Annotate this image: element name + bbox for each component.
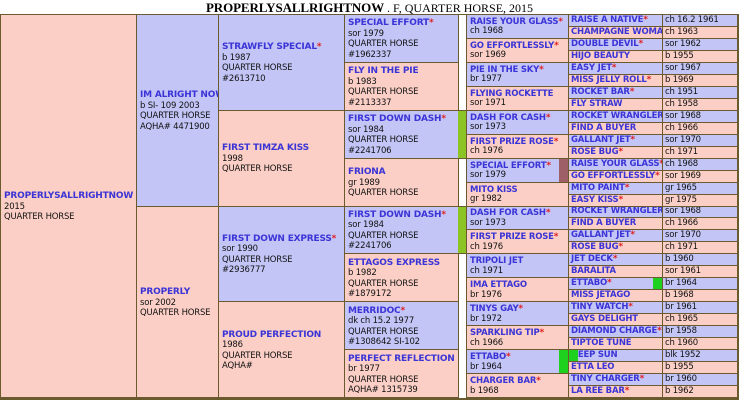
horse-detail-line-1: dk ch 15.2 1977 [348,316,455,327]
horse-name[interactable]: GALLANT JET* [571,136,660,145]
horse-name[interactable]: FLY STRAW [571,100,660,109]
horse-detail-line-1: gr 1982 [470,195,565,205]
cell-gen5-3[interactable]: FLYING ROCKETTEsor 1971 [466,86,569,111]
horse-detail-line-1: sor 1984 [348,220,455,231]
horse-name[interactable]: ROSE BUG* [571,243,660,252]
horse-detail-line-1: ch 1968 [470,27,565,37]
horse-color-year: ch 1971 [665,148,735,157]
horse-detail-line-1: br 1972 [470,315,565,325]
horse-color-year: ch 1960 [665,339,735,348]
generation-2-column: IM ALRIGHT NOWb SI- 109 2003QUARTER HORS… [137,15,219,398]
footer-strip [0,399,739,408]
horse-detail-line-1: gr 1989 [348,178,455,189]
horse-color-year: br 1958 [665,327,735,336]
cell-gen7-31[interactable]: b 1962 [662,385,738,398]
cell-gen1-subject[interactable]: PROPERLYSALLRIGHTNOW2015QUARTER HORSE [0,14,137,398]
horse-detail-line-1: b 1982 [348,268,455,279]
cell-gen5-9[interactable]: FIRST PRIZE ROSE*ch 1976 [466,229,569,254]
stakes-star-icon: * [400,306,405,316]
horse-color-year: ch 1963 [665,28,735,37]
stakes-star-icon: * [536,376,541,386]
cell-gen2-0[interactable]: IM ALRIGHT NOWb SI- 109 2003QUARTER HORS… [136,14,219,207]
horse-color-year: ch 1966 [665,219,735,228]
page-title-rest: . F, QUARTER HORSE, 2015 [384,1,533,15]
cell-gen5-8[interactable]: DASH FOR CASH*sor 1973 [466,206,569,231]
horse-detail-line-3: #2613710 [222,74,341,85]
horse-name[interactable]: JET DECK* [571,255,660,264]
cell-gen4-2[interactable]: FIRST DOWN DASH*sor 1984QUARTER HORSE#22… [344,110,459,159]
cell-gen5-11[interactable]: IMA ETTAGObr 1976 [466,277,569,302]
cell-gen3-1[interactable]: FIRST TIMZA KISS1998QUARTER HORSE [218,110,345,207]
stakes-star-icon: * [618,147,623,157]
horse-detail-line-2: QUARTER HORSE [348,375,455,386]
horse-color-year: b 1962 [665,387,735,396]
cell-gen5-14[interactable]: ETTABO*br 1964 [466,349,569,374]
cell-gen4-6[interactable]: MERRIDOC*dk ch 15.2 1977QUARTER HORSE#13… [344,301,459,350]
horse-name[interactable]: PROUD PERFECTION [222,330,341,341]
cell-gen6-31[interactable]: LA REE BAR* [568,385,663,398]
horse-detail-line-1: sor 1984 [348,125,455,136]
horse-detail-line-1: br 1977 [348,364,455,375]
stakes-star-icon: * [607,278,612,288]
horse-detail-line-1: sor 1971 [470,99,565,109]
horse-name[interactable]: RAISE A NATIVE* [571,16,660,25]
stakes-star-icon: * [317,42,322,52]
horse-name[interactable]: EASY JET* [571,64,660,73]
stakes-star-icon: * [638,39,643,49]
stakes-star-icon: * [618,242,623,252]
stakes-star-icon: * [647,75,652,85]
stakes-star-icon: * [441,114,446,124]
horse-detail-line-1: sor 1969 [470,51,565,61]
horse-detail-line-1: b SI- 109 2003 [140,101,215,112]
horse-detail-line-3: AQHA# [222,361,341,372]
horse-detail-line-3: #2936777 [222,265,341,276]
cell-gen3-0[interactable]: STRAWFLY SPECIAL*b 1987QUARTER HORSE#261… [218,14,345,111]
horse-color-year: ch 16.2 1961 [665,16,735,25]
cell-gen5-7[interactable]: MITO KISSgr 1982 [466,182,569,207]
stakes-star-icon: * [429,18,434,28]
horse-detail-line-2: QUARTER HORSE [140,308,215,319]
horse-detail-line-3: AQHA# 1315739 [348,385,455,396]
horse-color-year: ch 1968 [665,160,735,169]
inbreeding-marker [559,159,568,182]
horse-name[interactable]: ROCKET WRANGLER* [571,207,660,216]
horse-name[interactable]: GALLANT JET* [571,231,660,240]
horse-color-year: sor 1961 [665,267,735,276]
stakes-star-icon: * [643,15,648,25]
horse-detail-line-2: QUARTER HORSE [222,164,341,175]
horse-name[interactable]: CHAMPAGNE WOMAN [571,28,660,37]
cell-gen5-6[interactable]: SPECIAL EFFORT*sor 1979 [466,158,569,183]
horse-detail-line-3: #1879172 [348,289,455,300]
generation-3-column: STRAWFLY SPECIAL*b 1987QUARTER HORSE#261… [219,15,345,398]
horse-color-year: b 1969 [665,76,735,85]
stakes-star-icon: * [546,113,551,123]
stakes-star-icon: * [554,232,559,242]
horse-color-year: br 1960 [665,375,735,384]
horse-name[interactable]: ROCKET WRANGLER* [571,112,660,121]
stakes-star-icon: * [540,328,545,338]
page-title: PROPERLYSALLRIGHTNOW . F, QUARTER HORSE,… [0,0,739,14]
page-title-subject: PROPERLYSALLRIGHTNOW [206,0,384,15]
horse-name[interactable]: FLY IN THE PIE [348,66,455,77]
cell-gen5-0[interactable]: RAISE YOUR GLASS*ch 1968 [466,14,569,39]
horse-color-year: ch 1971 [665,243,735,252]
horse-detail-line-1: 1998 [222,154,341,165]
cell-gen4-5[interactable]: ETTAGOS EXPRESSb 1982QUARTER HORSE#18791… [344,253,459,302]
horse-detail-line-1: sor 1973 [470,219,565,229]
horse-name[interactable]: TINY CHARGER* [571,375,660,384]
inbreeding-marker [653,278,662,289]
stakes-star-icon: * [630,135,635,145]
horse-detail-line-1: sor 1979 [470,171,565,181]
horse-detail-line-2: QUARTER HORSE [348,279,455,290]
horse-name[interactable]: ETTAGOS EXPRESS [348,258,455,269]
stakes-star-icon: * [441,210,446,220]
cell-gen3-2[interactable]: FIRST DOWN EXPRESS*sor 1990QUARTER HORSE… [218,206,345,303]
horse-name[interactable]: SPECIAL EFFORT* [348,18,455,29]
stakes-star-icon: * [640,374,645,384]
horse-detail-line-2: QUARTER HORSE [4,212,133,223]
stakes-star-icon: * [518,304,523,314]
horse-color-year: ch 1951 [665,88,735,97]
horse-name[interactable]: MERRIDOC* [348,306,455,317]
generation-7-column: ch 16.2 1961ch 1963sor 1962b 1955sor 196… [663,15,738,398]
horse-detail-line-1: ch 1976 [470,147,565,157]
horse-name[interactable]: DOUBLE DEVIL* [571,40,660,49]
horse-color-year: sor 1968 [665,112,735,121]
stakes-star-icon: * [554,137,559,147]
horse-detail-line-1: sor 1973 [470,123,565,133]
cell-gen4-7[interactable]: PERFECT REFLECTIONbr 1977QUARTER HORSEAQ… [344,349,459,398]
horse-color-year: blk 1952 [665,351,735,360]
cell-gen4-3[interactable]: FRIONAgr 1989QUARTER HORSE [344,158,459,207]
horse-name[interactable]: HIJO BEAUTY [571,52,660,61]
cell-gen4-0[interactable]: SPECIAL EFFORT*sor 1979QUARTER HORSE#196… [344,14,459,63]
stakes-star-icon: * [558,17,563,27]
horse-color-year: ch 1958 [665,100,735,109]
horse-color-year: b 1960 [665,255,735,264]
horse-detail-line-1: 2015 [4,202,133,213]
horse-name[interactable]: FIRST DOWN DASH* [348,114,455,125]
cell-gen5-13[interactable]: SPARKLING TIP*ch 1966 [466,325,569,350]
horse-detail-line-2: QUARTER HORSE [348,135,455,146]
horse-detail-line-1: br 1976 [470,291,565,301]
stakes-star-icon: * [657,326,662,336]
horse-detail-line-2: QUARTER HORSE [222,63,341,74]
horse-name[interactable]: GAYS DELIGHT [571,315,660,324]
horse-color-year: ch 1965 [665,315,735,324]
horse-detail-line-2: QUARTER HORSE [140,111,215,122]
horse-name[interactable]: FIRST TIMZA KISS [222,143,341,154]
generation-1-column: PROPERLYSALLRIGHTNOW2015QUARTER HORSE [1,15,137,398]
horse-color-year: b 1955 [665,363,735,372]
horse-name[interactable]: BARALITA [571,267,660,276]
horse-name[interactable]: GO EFFORTLESSLY* [571,172,660,181]
horse-detail-line-1: b 1968 [470,387,565,397]
horse-name[interactable]: PERFECT REFLECTION [348,354,455,365]
stakes-star-icon: * [630,87,635,97]
stakes-star-icon: * [539,65,544,75]
horse-detail-line-1: b 1983 [348,77,455,88]
stakes-star-icon: * [630,230,635,240]
horse-color-year: sor 1968 [665,207,735,216]
horse-name[interactable]: FIRST DOWN EXPRESS* [222,234,341,245]
horse-name[interactable]: LA REE BAR* [571,387,660,396]
horse-name[interactable]: FIND A BUYER [571,219,660,228]
cell-gen4-4[interactable]: FIRST DOWN DASH*sor 1984QUARTER HORSE#22… [344,206,459,255]
horse-name[interactable]: MISS JELLY ROLL* [571,76,660,85]
horse-color-year: ch 1966 [665,124,735,133]
cell-gen5-2[interactable]: PIE IN THE SKY*br 1977 [466,62,569,87]
horse-detail-line-2: QUARTER HORSE [348,327,455,338]
horse-color-year: sor 1970 [665,136,735,145]
cell-gen3-3[interactable]: PROUD PERFECTION1986QUARTER HORSEAQHA# [218,301,345,398]
horse-name[interactable]: MITO PAINT* [571,184,660,193]
horse-name[interactable]: DIAMOND CHARGE* [571,327,660,336]
horse-color-year: br 1964 [665,279,735,288]
horse-detail-line-1: ch 1976 [470,243,565,253]
horse-detail-line-1: sor 1990 [222,244,341,255]
horse-detail-line-2: QUARTER HORSE [348,87,455,98]
horse-name[interactable]: FIND A BUYER [571,124,660,133]
stakes-star-icon: * [546,208,551,218]
horse-color-year: sor 1962 [665,40,735,49]
horse-name[interactable]: ETTABO* [571,279,660,288]
horse-detail-line-2: QUARTER HORSE [348,39,455,50]
horse-detail-line-3: #2113337 [348,98,455,109]
cell-gen5-12[interactable]: TINYS GAY*br 1972 [466,301,569,326]
horse-name[interactable]: TIPTOE TUNE [571,339,660,348]
cell-gen5-4[interactable]: DASH FOR CASH*sor 1973 [466,110,569,135]
cell-gen5-1[interactable]: GO EFFORTLESSLY*sor 1969 [466,38,569,63]
generation-5-column: RAISE YOUR GLASS*ch 1968GO EFFORTLESSLY*… [467,15,569,398]
cell-gen5-15[interactable]: CHARGER BAR*b 1968 [466,373,569,398]
stakes-star-icon: * [655,171,660,181]
horse-detail-line-1: ch 1966 [470,339,565,349]
stakes-star-icon: * [625,183,630,193]
inbreeding-marker [569,350,578,361]
generation-6-column: RAISE A NATIVE*CHAMPAGNE WOMANDOUBLE DEV… [569,15,663,398]
horse-color-year: gr 1975 [665,196,735,205]
horse-detail-line-2: QUARTER HORSE [348,231,455,242]
horse-name[interactable]: PROPERLYSALLRIGHTNOW [4,191,133,202]
horse-detail-line-1: 1986 [222,340,341,351]
horse-detail-line-3: #2241706 [348,241,455,252]
horse-detail-line-2: QUARTER HORSE [348,188,455,199]
horse-detail-line-2: QUARTER HORSE [222,255,341,266]
horse-name[interactable]: FRIONA [348,167,455,178]
horse-name[interactable]: ROCKET BAR* [571,88,660,97]
stakes-star-icon: * [612,63,617,73]
cell-gen5-5[interactable]: FIRST PRIZE ROSE*ch 1976 [466,134,569,159]
stakes-star-icon: * [546,161,551,171]
generation-4-column: SPECIAL EFFORT*sor 1979QUARTER HORSE#196… [345,15,459,398]
stakes-star-icon: * [628,302,633,312]
horse-name[interactable]: ROSE BUG* [571,148,660,157]
horse-color-year: sor 1969 [665,172,735,181]
horse-color-year: sor 1967 [665,64,735,73]
horse-name[interactable]: TINY WATCH* [571,303,660,312]
horse-color-year: br 1961 [665,303,735,312]
horse-name[interactable]: IM ALRIGHT NOW [140,90,215,101]
horse-detail-line-3: #1308642 SI-102 [348,337,455,348]
horse-color-year: b 1955 [665,52,735,61]
horse-name[interactable]: MISS JETAGO [571,291,660,300]
cell-gen4-1[interactable]: FLY IN THE PIEb 1983QUARTER HORSE#211333… [344,62,459,111]
stakes-star-icon: * [618,195,623,205]
horse-detail-line-1: br 1964 [470,363,565,373]
stakes-star-icon: * [554,41,559,51]
stakes-star-icon: * [506,352,511,362]
horse-detail-line-1: br 1977 [470,75,565,85]
stakes-star-icon: * [613,254,618,264]
horse-name[interactable]: RAISE YOUR GLASS* [571,160,660,169]
inbreeding-marker [559,350,568,373]
horse-color-year: sor 1970 [665,231,735,240]
horse-name[interactable]: DEEP SUN [571,351,660,360]
stakes-star-icon: * [625,386,630,396]
horse-color-year: b 1968 [665,291,735,300]
horse-detail-line-1: sor 1979 [348,29,455,40]
horse-detail-line-1: b 1987 [222,53,341,64]
horse-detail-line-3: #2241706 [348,146,455,157]
horse-name[interactable]: STRAWFLY SPECIAL* [222,42,341,53]
pedigree-table: PROPERLYSALLRIGHTNOW2015QUARTER HORSE IM… [0,14,739,399]
horse-detail-line-1: sor 2002 [140,298,215,309]
horse-name[interactable]: ETTA LEO [571,363,660,372]
horse-detail-line-3: #1962337 [348,50,455,61]
horse-name[interactable]: FIRST DOWN DASH* [348,210,455,221]
horse-detail-line-3: AQHA# 4471900 [140,122,215,133]
horse-name[interactable]: PROPERLY [140,287,215,298]
horse-name[interactable]: EASY KISS* [571,196,660,205]
horse-detail-line-2: QUARTER HORSE [222,351,341,362]
cell-gen5-10[interactable]: TRIPOLI JETch 1971 [466,253,569,278]
cell-gen2-1[interactable]: PROPERLYsor 2002QUARTER HORSE [136,206,219,399]
horse-color-year: gr 1965 [665,184,735,193]
stakes-star-icon: * [332,234,337,244]
horse-detail-line-1: ch 1971 [470,267,565,277]
